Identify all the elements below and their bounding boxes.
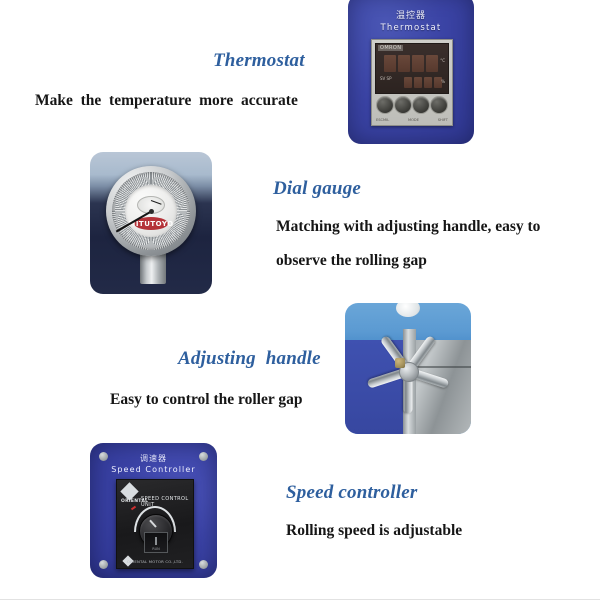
handwheel-center-nut: [395, 358, 405, 368]
omron-brand-label: OMRON: [378, 45, 403, 51]
gauge-bezel-knurling: MITUTOYO: [112, 172, 190, 250]
omron-power-button[interactable]: [376, 96, 394, 114]
speed-cn-label: 调速器: [90, 453, 217, 464]
omron-display: OMRON SV SP °C %: [375, 43, 449, 94]
feature-heading-speed-controller: Speed controller: [286, 482, 417, 504]
gauge-subdial-needle: [151, 200, 162, 205]
omron-footer-mid: MODE: [408, 118, 419, 122]
omron-up-button[interactable]: [430, 96, 448, 114]
seven-segment-digit: [404, 77, 412, 88]
panel-screw: [99, 560, 108, 569]
speed-unit-footer: ORIENTAL MOTOR CO.,LTD.: [117, 559, 193, 564]
feature-description-adjusting-handle: Easy to control the roller gap: [110, 385, 302, 415]
omron-button-row: [376, 96, 448, 114]
speed-controller-photo: 调速器 Speed Controller ORIENTAL SPEED CONT…: [90, 443, 217, 578]
panel-screw: [199, 560, 208, 569]
machine-top-cap: [396, 303, 420, 317]
panel-screw: [199, 452, 208, 461]
seven-segment-digit: [412, 55, 424, 72]
knob-min-marker: [131, 506, 136, 511]
adjusting-handle-photo: [345, 303, 471, 434]
gauge-face: MITUTOYO: [125, 185, 177, 237]
omron-unit-celsius: °C: [440, 58, 445, 63]
knob-pointer: [149, 520, 157, 528]
feature-heading-dial-gauge: Dial gauge: [273, 178, 361, 200]
omron-down-button[interactable]: [412, 96, 430, 114]
thermostat-en-label: Thermostat: [348, 23, 474, 33]
speed-display-label: RUN: [145, 547, 167, 551]
feature-heading-adjusting-handle: Adjusting handle: [178, 348, 321, 370]
speed-en-label: Speed Controller: [90, 465, 217, 474]
omron-footer-labels: ESCMIL MODE SHIFT: [376, 118, 448, 122]
feature-description-speed-controller: Rolling speed is adjustable: [286, 516, 462, 546]
seven-segment-digit: [398, 55, 410, 72]
feature-description-dial-gauge-line2: observe the rolling gap: [276, 246, 427, 276]
thermostat-photo: 温控器 Thermostat OMRON SV SP °C: [348, 0, 474, 144]
handwheel-hub: [399, 362, 419, 382]
omron-controller: OMRON SV SP °C %: [371, 39, 453, 126]
panel-screw: [99, 452, 108, 461]
dial-gauge-photo: MITUTOYO: [90, 152, 212, 294]
omron-mode-button[interactable]: [394, 96, 412, 114]
gauge-stem: [140, 252, 166, 284]
seven-segment-digit: [424, 77, 432, 88]
omron-pv-digits: [384, 55, 438, 72]
speed-control-unit: ORIENTAL SPEED CONTROL UNIT RUN ORIENTAL…: [116, 479, 194, 569]
speed-display-indicator: [155, 537, 157, 545]
seven-segment-digit: [426, 55, 438, 72]
oriental-motor-logo-icon: [120, 482, 138, 500]
speed-display-window: RUN: [144, 532, 168, 553]
seven-segment-digit: [414, 77, 422, 88]
thermostat-cn-label: 温控器: [348, 8, 474, 21]
feature-infographic: Thermostat Make the temperature more acc…: [0, 0, 600, 599]
omron-footer-right: SHIFT: [438, 118, 448, 122]
feature-description-thermostat: Make the temperature more accurate: [35, 86, 298, 116]
gauge-hub: [149, 209, 154, 214]
gauge-body: MITUTOYO: [106, 166, 196, 256]
feature-heading-thermostat: Thermostat: [213, 50, 305, 72]
feature-description-dial-gauge-line1: Matching with adjusting handle, easy to: [276, 212, 540, 242]
omron-sv-digits: [404, 77, 442, 88]
omron-setpoint-label: SV SP: [380, 76, 392, 82]
omron-footer-left: ESCMIL: [376, 118, 389, 122]
seven-segment-digit: [384, 55, 396, 72]
omron-unit-percent: %: [441, 79, 445, 84]
